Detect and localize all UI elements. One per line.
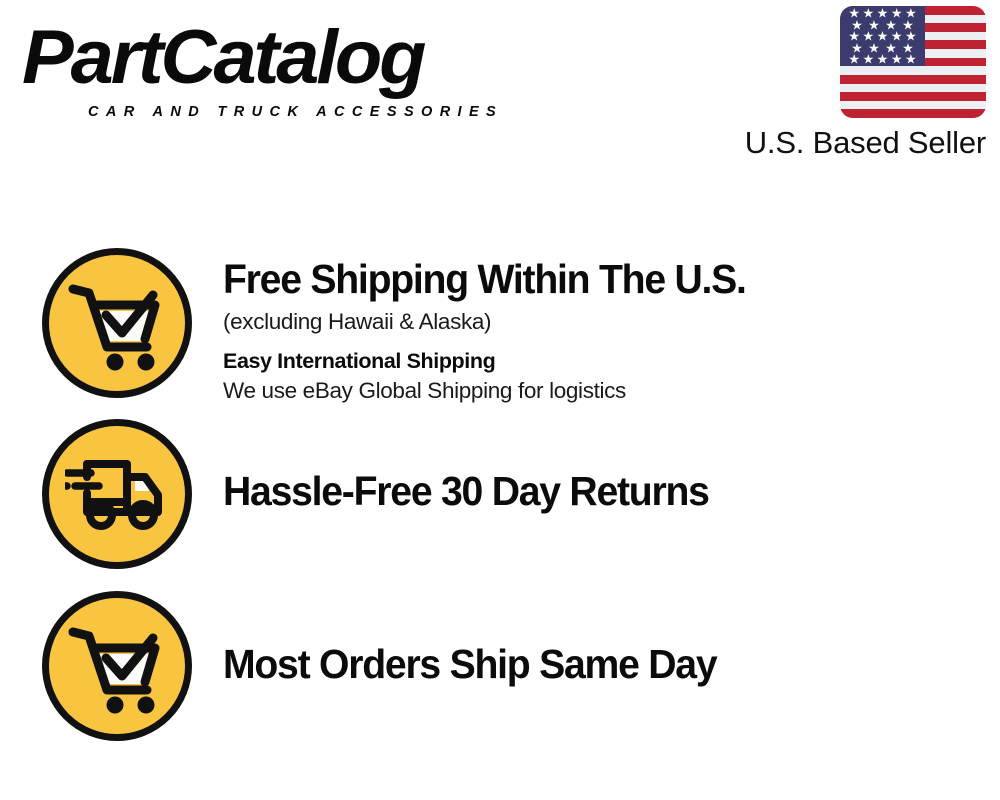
feature-sub-heading: Easy International Shipping — [223, 346, 1000, 376]
flag-stripe — [840, 66, 986, 75]
feature-headline: Free Shipping Within The U.S. — [223, 256, 987, 302]
flag-stripe — [840, 109, 986, 118]
flag-star: ★ — [848, 53, 860, 66]
flag-stripe — [840, 75, 986, 84]
brand-logo[interactable]: PartCatalog CAR AND TRUCK ACCESSORIES — [22, 18, 492, 113]
shopping-cart-check-icon — [42, 248, 192, 398]
spacer — [223, 337, 1000, 346]
us-flag-icon: ★★★★★★★★★★★★★★★★★★★★★★★ — [840, 6, 986, 118]
feature-headline: Most Orders Ship Same Day — [223, 641, 987, 687]
flag-star: ★ — [862, 53, 874, 66]
flag-canton: ★★★★★★★★★★★★★★★★★★★★★★★ — [840, 6, 925, 66]
promo-banner: PartCatalog CAR AND TRUCK ACCESSORIES ★★… — [0, 0, 1000, 800]
us-based-seller-label: U.S. Based Seller — [716, 125, 986, 161]
flag-star: ★ — [891, 53, 903, 66]
brand-wordmark: PartCatalog — [22, 18, 423, 98]
feature-text-free-shipping: Free Shipping Within The U.S. (excluding… — [223, 256, 1000, 406]
feature-sub-detail: We use eBay Global Shipping for logistic… — [223, 376, 1000, 406]
brand-tagline: CAR AND TRUCK ACCESSORIES — [88, 104, 503, 120]
feature-subline: (excluding Hawaii & Alaska) — [223, 307, 1000, 337]
feature-headline: Hassle-Free 30 Day Returns — [223, 468, 987, 514]
flag-stripe — [840, 101, 986, 110]
feature-text-returns: Hassle-Free 30 Day Returns — [223, 468, 1000, 514]
flag-stripe — [840, 84, 986, 93]
flag-star: ★ — [877, 53, 889, 66]
us-based-seller-badge: ★★★★★★★★★★★★★★★★★★★★★★★ U.S. Based Selle… — [716, 6, 986, 161]
flag-star: ★ — [905, 53, 917, 66]
shopping-cart-check-icon — [42, 591, 192, 741]
flag-stripe — [840, 92, 986, 101]
delivery-truck-icon — [42, 419, 192, 569]
feature-text-same-day: Most Orders Ship Same Day — [223, 641, 1000, 687]
